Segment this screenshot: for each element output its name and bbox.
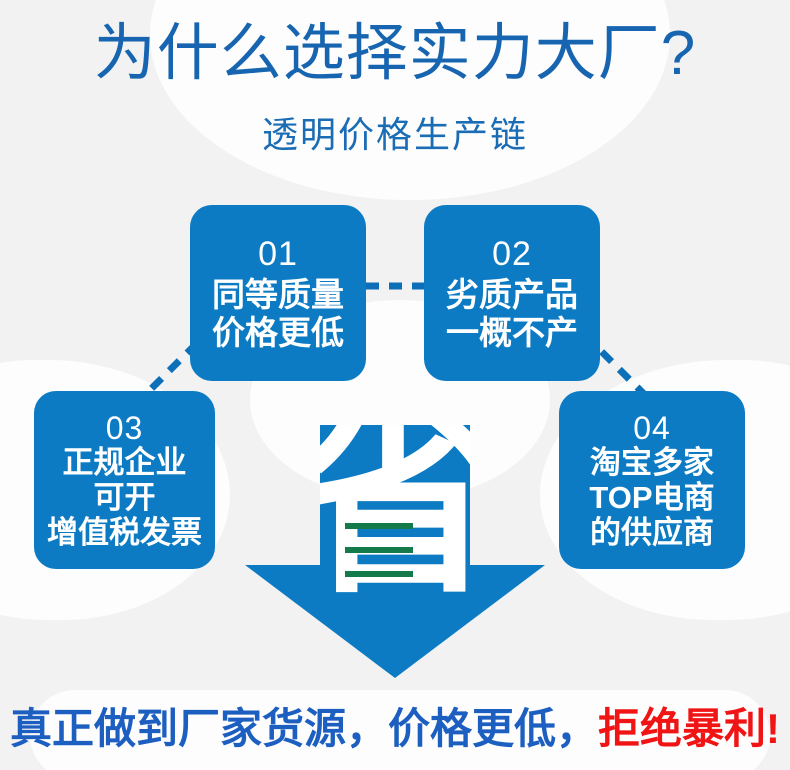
card-04-line-3: 的供应商 [590, 515, 714, 550]
card-04-line-1: 淘宝多家 [590, 445, 714, 480]
slogan-blue-text: 真正做到厂家货源，价格更低， [10, 705, 598, 752]
card-03-number: 03 [106, 411, 144, 445]
card-01-number: 01 [258, 234, 298, 274]
slogan-red-text: 拒绝暴利! [598, 705, 780, 752]
card-02-number: 02 [492, 234, 532, 274]
card-02-line-1: 劣质产品 [446, 276, 578, 314]
card-04-number: 04 [633, 411, 671, 445]
page-subtitle: 透明价格生产链 [0, 112, 790, 158]
glyph-stripe-3 [345, 571, 413, 577]
promo-poster: 为什么选择实力大厂? 透明价格生产链 01 同等质量 价格更低 02 劣质产品 … [0, 0, 790, 770]
card-01-line-2: 价格更低 [212, 314, 344, 352]
glyph-stripe-1 [345, 523, 413, 529]
feature-card-01[interactable]: 01 同等质量 价格更低 [190, 205, 366, 381]
feature-card-02[interactable]: 02 劣质产品 一概不产 [424, 205, 600, 381]
card-01-line-1: 同等质量 [212, 276, 344, 314]
card-02-line-2: 一概不产 [446, 314, 578, 352]
down-arrow-save-graphic: 省 [240, 425, 550, 680]
bottom-slogan: 真正做到厂家货源，价格更低，拒绝暴利! [0, 703, 790, 755]
feature-card-03[interactable]: 03 正规企业 可开 增值税发票 [34, 391, 215, 569]
save-glyph: 省 [293, 425, 498, 617]
feature-card-04[interactable]: 04 淘宝多家 TOP电商 的供应商 [559, 391, 745, 569]
glyph-stripe-2 [345, 547, 413, 553]
page-title: 为什么选择实力大厂? [0, 18, 790, 90]
card-03-line-1: 正规企业 [63, 445, 187, 480]
card-03-line-2: 可开 [94, 480, 156, 515]
card-03-line-3: 增值税发票 [47, 515, 202, 550]
save-glyph-group: 省 [293, 425, 498, 617]
card-04-line-2: TOP电商 [589, 480, 714, 515]
connector-01-to-02 [364, 278, 428, 288]
